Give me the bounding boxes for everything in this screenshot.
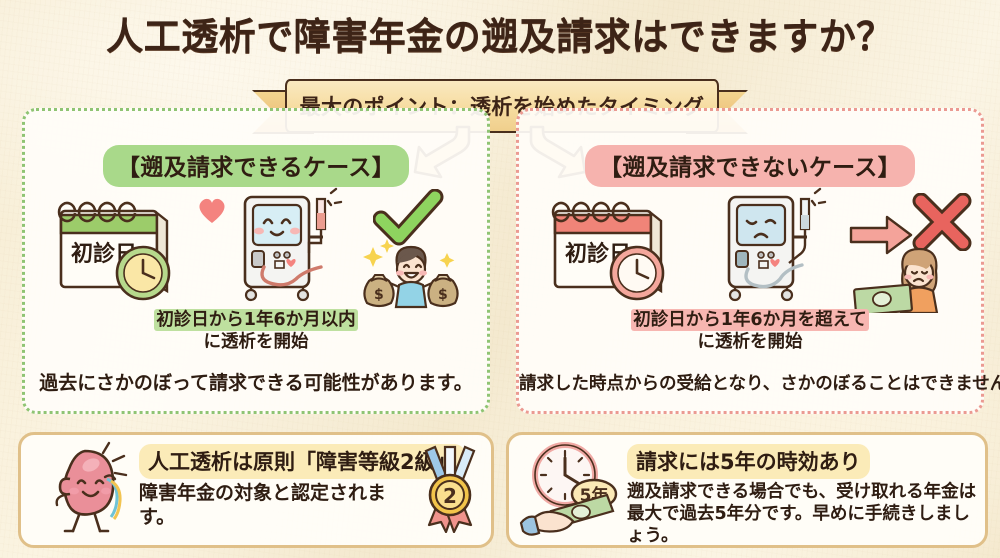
title-segment-1: 人工透析で bbox=[106, 15, 294, 58]
svg-text:$: $ bbox=[374, 287, 384, 303]
money-bag-right: $ bbox=[428, 275, 457, 306]
medal-number: 2 bbox=[443, 484, 457, 508]
heart-icon bbox=[197, 197, 227, 225]
panel-cannot-claim: 【遡及請求できないケース】 初診日 bbox=[516, 108, 984, 414]
sad-person-with-single-bill-icon bbox=[849, 241, 961, 313]
happy-person-with-money-bags-icon: $ $ bbox=[359, 237, 463, 309]
title-segment-3-highlighted: 遡及請求 bbox=[481, 6, 631, 60]
svg-text:$: $ bbox=[438, 287, 448, 303]
page-title: 人工透析で障害年金の遡及請求はできますか？ bbox=[0, 6, 1000, 60]
card-five-year-limit: 5年 請求には5年の時効あり 遡及請求できる場合でも、受け取れる年金は 最大で過… bbox=[506, 432, 988, 548]
calendar-icon: 初診日 bbox=[51, 189, 181, 307]
dialysis-machine-sad-icon bbox=[717, 187, 837, 305]
card-body-grade-2: 人工透析は原則「障害等級2級」 障害年金の対象と認定されます。 bbox=[139, 444, 413, 530]
caption-highlight: 初診日から1年6か月を超えて bbox=[631, 309, 868, 331]
caption-can-claim: 初診日から1年6か月以内 に透析を開始 bbox=[25, 309, 487, 354]
card-body-five-year-limit: 請求には5年の時効あり 遡及請求できる場合でも、受け取れる年金は 最大で過去5年… bbox=[627, 444, 977, 548]
dialysis-machine-happy-icon bbox=[233, 187, 353, 305]
medal-icon: 2 bbox=[417, 443, 483, 533]
kidney-character-icon bbox=[29, 439, 141, 541]
clock-with-money-icon: 5年 bbox=[517, 439, 629, 541]
panel-can-claim: 【遡及請求できるケース】 初診日 bbox=[22, 108, 490, 414]
footer-can-claim: 過去にさかのぼって請求できる可能性があります。 bbox=[25, 368, 487, 395]
card-text-five-year-limit: 遡及請求できる場合でも、受け取れる年金は 最大で過去5年分です。早めに手続きしま… bbox=[627, 482, 977, 548]
calendar-icon: 初診日 bbox=[545, 189, 675, 307]
caption-rest: に透析を開始 bbox=[204, 332, 309, 352]
card-title-five-year-limit: 請求には5年の時効あり bbox=[627, 444, 870, 479]
title-segment-2-highlighted: 障害年金の bbox=[294, 6, 482, 60]
panel-heading-can-claim: 【遡及請求できるケース】 bbox=[25, 145, 487, 187]
card-grade-2: 人工透析は原則「障害等級2級」 障害年金の対象と認定されます。 2 bbox=[18, 432, 494, 548]
card-text-line-1: 遡及請求できる場合でも、受け取れる年金は bbox=[627, 482, 976, 502]
money-bag-left: $ bbox=[364, 275, 393, 306]
panel-heading-cannot-claim: 【遡及請求できないケース】 bbox=[519, 145, 981, 187]
card-text-line-2: 最大で過去5年分です。早めに手続きしましょう。 bbox=[627, 504, 970, 546]
caption-rest: に透析を開始 bbox=[698, 332, 803, 352]
scene-cannot-claim: 初診日 bbox=[519, 183, 981, 308]
footer-cannot-claim: 請求した時点からの受給となり、さかのぼることはできません。 bbox=[519, 370, 981, 395]
caption-highlight: 初診日から1年6か月以内 bbox=[154, 309, 357, 331]
caption-cannot-claim: 初診日から1年6か月を超えて に透析を開始 bbox=[519, 309, 981, 354]
title-segment-4: はできますか？ bbox=[631, 15, 894, 58]
card-text-grade-2: 障害年金の対象と認定されます。 bbox=[139, 482, 413, 530]
scene-can-claim: 初診日 bbox=[25, 183, 487, 308]
